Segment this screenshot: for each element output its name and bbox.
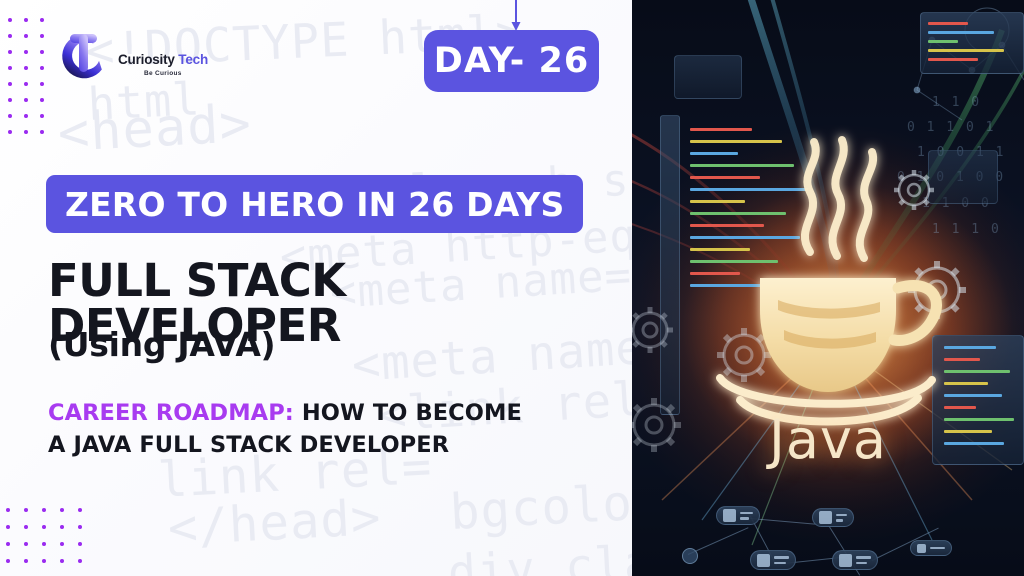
java-wordmark: Java <box>632 408 1024 471</box>
node-card <box>812 508 854 527</box>
gear-icon-group <box>632 0 1024 576</box>
dot <box>6 559 10 563</box>
dot <box>8 50 12 54</box>
network-nodes-decoration <box>632 0 1024 576</box>
node-card <box>832 550 878 570</box>
dot <box>8 114 12 118</box>
brand-name-primary: Curiosity <box>118 52 175 67</box>
list-icon <box>757 554 770 567</box>
dot <box>78 542 82 546</box>
watermark-line: <head> <box>56 94 253 164</box>
node-card <box>716 506 760 525</box>
day-number-badge: DAY- 26 <box>424 30 599 92</box>
brand-logo-text: Curiosity Tech Be Curious <box>118 37 208 77</box>
node-card-lines <box>774 556 789 564</box>
dot <box>78 559 82 563</box>
dot <box>24 50 28 54</box>
curiosity-tech-c-monogram-icon <box>52 26 112 88</box>
arrow-down-icon <box>510 0 522 32</box>
dot <box>24 98 28 102</box>
grid-icon <box>917 544 926 553</box>
dot <box>40 114 44 118</box>
roadmap-line1-rest: HOW TO BECOME <box>294 400 522 426</box>
node-card-lines <box>740 512 753 520</box>
binary-digits-decoration: 1 1 0 0 1 1 0 1 1 0 0 1 1 0 1 0 1 0 0 1 … <box>632 0 1024 576</box>
node-card-lines <box>930 547 945 550</box>
watermark-line: bgcolor=" <box>449 470 632 541</box>
dot <box>6 525 10 529</box>
node-card-lines <box>856 556 871 564</box>
dot <box>42 542 46 546</box>
dot <box>60 559 64 563</box>
dot <box>60 508 64 512</box>
course-promo-banner: <!DOCTYPE html> html <head> <title>web s… <box>0 0 1024 576</box>
dot <box>60 525 64 529</box>
roadmap-description: CAREER ROADMAP: HOW TO BECOME A JAVA FUL… <box>48 398 522 462</box>
image-icon <box>819 511 832 524</box>
dot <box>42 559 46 563</box>
dot <box>8 34 12 38</box>
node-card-lines <box>836 514 847 522</box>
code-editor-decoration-right <box>632 0 1024 576</box>
dot <box>78 525 82 529</box>
dot <box>8 18 12 22</box>
dot <box>24 508 28 512</box>
dot <box>24 525 28 529</box>
dot <box>78 508 82 512</box>
node-card <box>750 550 796 570</box>
roadmap-accent-label: CAREER ROADMAP: <box>48 400 294 426</box>
dot <box>40 82 44 86</box>
dot <box>6 508 10 512</box>
promo-banner: ZERO TO HERO IN 26 DAYS <box>46 175 583 233</box>
brand-name-secondary: Tech <box>178 52 208 67</box>
user-icon <box>723 509 736 522</box>
dot <box>8 82 12 86</box>
dot <box>40 66 44 70</box>
dot <box>24 130 28 134</box>
dot <box>6 542 10 546</box>
dot <box>8 98 12 102</box>
dot <box>24 34 28 38</box>
dot <box>8 130 12 134</box>
brand-name: Curiosity Tech <box>118 53 208 67</box>
code-editor-decoration-left <box>632 0 1024 576</box>
dot <box>24 114 28 118</box>
node-card <box>910 540 952 556</box>
dot <box>40 98 44 102</box>
dot <box>40 50 44 54</box>
dot <box>40 34 44 38</box>
dot <box>24 18 28 22</box>
dot <box>40 130 44 134</box>
dot <box>42 508 46 512</box>
dot <box>42 525 46 529</box>
java-coffee-cup-icon <box>632 0 1024 576</box>
java-artwork-panel: 1 1 0 0 1 1 0 1 1 0 0 1 1 0 1 0 1 0 0 1 … <box>632 0 1024 576</box>
watermark-line: </head> <box>167 489 383 557</box>
dot <box>24 542 28 546</box>
dot <box>40 18 44 22</box>
dot <box>24 82 28 86</box>
dot <box>60 542 64 546</box>
brand-logo[interactable]: Curiosity Tech Be Curious <box>52 26 208 88</box>
page-subtitle: (Using JAVA) <box>48 328 275 361</box>
person-icon <box>839 554 852 567</box>
brand-tagline: Be Curious <box>144 70 182 77</box>
left-content-panel: <!DOCTYPE html> html <head> <title>web s… <box>0 0 632 576</box>
dot <box>24 66 28 70</box>
roadmap-line2: A JAVA FULL STACK DEVELOPER <box>48 432 449 458</box>
dot <box>8 66 12 70</box>
light-arcs-decoration <box>632 0 1024 576</box>
watermark-line: div class= <box>447 531 632 576</box>
dot-grid-bottom-left <box>6 508 116 576</box>
dot <box>24 559 28 563</box>
